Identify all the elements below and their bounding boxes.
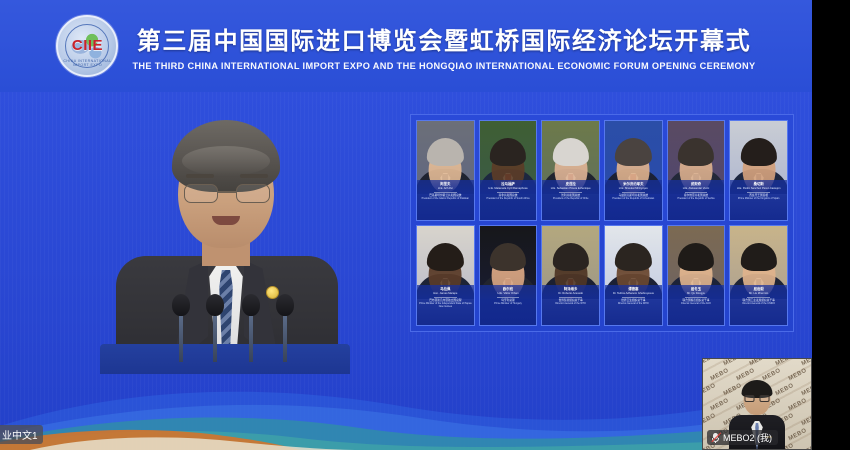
backdrop-watermark-text: MEBO	[788, 428, 808, 443]
leader-hair	[678, 243, 714, 271]
leader-title-en: President of the Republic of Chile	[553, 197, 588, 200]
leader-caption: 武契奇H.E. Aleksandar Vucic塞尔维亚共和国总统Preside…	[668, 180, 725, 220]
leader-caption-divider	[434, 192, 457, 193]
leader-hair	[427, 138, 463, 166]
corner-caption-label: 业中文1	[0, 425, 43, 444]
leader-name-en: Mr. Qu Dongyu	[687, 292, 705, 295]
leader-caption-divider	[747, 297, 770, 298]
leader-caption: 皮涅拉H.E. Sebastian Pinera Echenique智利共和国总…	[542, 180, 599, 220]
leader-title-en: President of the Republic of Uzbekistan	[612, 197, 654, 200]
leader-hair	[678, 138, 714, 166]
leader-portrait: 屈冬玉Mr. Qu Dongyu联合国粮农组织总干事Director-Gener…	[667, 225, 726, 326]
self-view-lens-left	[745, 395, 755, 402]
speaker-glasses-icon	[184, 184, 270, 204]
leader-hair	[741, 243, 777, 271]
backdrop-watermark-text: MEBO	[710, 398, 730, 413]
leader-caption-divider	[497, 192, 520, 193]
leader-caption-divider	[559, 192, 582, 193]
glasses-bridge	[218, 191, 236, 193]
leader-hair	[741, 138, 777, 166]
leader-caption-divider	[622, 297, 645, 298]
leader-name-en: H.E. Viktor Orban	[497, 292, 518, 295]
leader-hair	[615, 138, 651, 166]
leader-title-en: Director-General of the WHO	[618, 302, 649, 305]
ceremony-header-banner: CIIE CHINA INTERNATIONAL IMPORT EXPO 第三届…	[0, 0, 812, 92]
leader-title-en: Prime Minister of Hungary	[494, 302, 522, 305]
microphone-icon-3	[242, 294, 260, 362]
leader-hair	[553, 138, 589, 166]
leader-caption: 桑切斯H.E. Pedro Sanchez Perez-Castejon西班牙王…	[730, 180, 787, 220]
backdrop-watermark-text: MEBO	[762, 368, 782, 383]
leader-caption: 屈岩毅Mr. Liu Zhenmin联合国工业发展组织总干事Director-G…	[730, 285, 787, 325]
ceremony-stage-area: 阿里夫H.E. Arif Alvi巴基斯坦伊斯兰共和国总统President o…	[0, 92, 812, 450]
leader-title-en: Prime Minister of the Kingdom of Spain	[738, 197, 779, 200]
leader-name-en: H.E. Shavkat Mirziyoyev	[619, 187, 648, 190]
backdrop-watermark-text: MEBO	[801, 358, 812, 367]
leader-portrait: 皮涅拉H.E. Sebastian Pinera Echenique智利共和国总…	[541, 120, 600, 221]
backdrop-watermark-text: MEBO	[775, 358, 795, 367]
leader-portrait: 桑切斯H.E. Pedro Sanchez Perez-Castejon西班牙王…	[729, 120, 788, 221]
microphone-icon-4	[276, 294, 294, 362]
leader-portrait: 屈岩毅Mr. Liu Zhenmin联合国工业发展组织总干事Director-G…	[729, 225, 788, 326]
leader-name-en: H.E. Sebastian Pinera Echenique	[551, 187, 591, 190]
leader-title-en: Prime Minister of the Independent State …	[417, 302, 474, 308]
ciie-logo-text: CIIE	[58, 37, 116, 54]
backdrop-watermark-text: MEBO	[749, 358, 769, 367]
leader-title-en: Director-General of the UNIDO	[742, 302, 775, 305]
leader-title-en: President of the Republic of South Afric…	[487, 197, 530, 200]
leader-caption: 屈冬玉Mr. Qu Dongyu联合国粮农组织总干事Director-Gener…	[668, 285, 725, 325]
leader-portrait: 阿里夫H.E. Arif Alvi巴基斯坦伊斯兰共和国总统President o…	[416, 120, 475, 221]
leader-caption-divider	[685, 192, 708, 193]
glasses-lens-right	[236, 184, 270, 203]
leader-hair	[553, 243, 589, 271]
speaker-figure	[60, 110, 390, 360]
podium	[100, 344, 350, 374]
letterbox-bar-right	[812, 0, 850, 450]
backdrop-watermark-text: MEBO	[801, 443, 812, 450]
leader-caption-divider	[434, 297, 457, 298]
self-view-name-label: MEBO2 (我)	[707, 430, 778, 445]
leader-caption: 阿泽维多Dr. Roberto Azevedo世界贸易组织总干事Director…	[542, 285, 599, 325]
self-view-participant-name: MEBO2 (我)	[723, 431, 772, 444]
speaker-hair	[172, 120, 280, 192]
leader-portrait: 欧尔班H.E. Viktor Orban匈牙利总理Prime Minister …	[479, 225, 538, 326]
leader-portrait: 马拉佩Hon. James Marape巴布亚新几内亚独立国总理Prime Mi…	[416, 225, 475, 326]
leader-name-en: Dr. Roberto Azevedo	[558, 292, 583, 295]
video-conference-screen: CIIE CHINA INTERNATIONAL IMPORT EXPO 第三届…	[0, 0, 850, 450]
self-view-video-tile[interactable]: MEBOMEBOMEBOMEBOMEBOMEBOMEBOMEBOMEBOMEBO…	[702, 358, 812, 450]
ceremony-title-english: THE THIRD CHINA INTERNATIONAL IMPORT EXP…	[132, 61, 755, 71]
leader-caption: 欧尔班H.E. Viktor Orban匈牙利总理Prime Minister …	[480, 285, 537, 325]
leader-name-en: H.E. Matamela Cyril Ramaphosa	[488, 187, 527, 190]
speaker-brow-right	[240, 174, 268, 178]
backdrop-watermark-text: MEBO	[801, 383, 812, 398]
backdrop-watermark-text: MEBO	[788, 398, 808, 413]
ceremony-title-chinese: 第三届中国国际进口博览会暨虹桥国际经济论坛开幕式	[137, 21, 751, 56]
leader-hair	[490, 138, 526, 166]
leader-caption-divider	[747, 192, 770, 193]
leader-title-en: Director-General of the FAO	[681, 302, 711, 305]
leader-title-en: President of the Islamic Republic of Pak…	[422, 197, 469, 200]
leader-caption: 阿里夫H.E. Arif Alvi巴基斯坦伊斯兰共和国总统President o…	[417, 180, 474, 220]
leader-caption-divider	[622, 192, 645, 193]
self-view-lens-right	[760, 395, 770, 402]
leader-title-en: Director-General of the WTO	[555, 302, 586, 305]
backdrop-watermark-text: MEBO	[801, 413, 812, 428]
backdrop-watermark-text: MEBO	[710, 368, 730, 383]
leader-name-en: Mr. Liu Zhenmin	[749, 292, 768, 295]
backdrop-watermark-text: MEBO	[702, 358, 717, 367]
leader-caption-divider	[559, 297, 582, 298]
leader-portrait: 阿泽维多Dr. Roberto Azevedo世界贸易组织总干事Director…	[541, 225, 600, 326]
glasses-lens-left	[184, 184, 218, 203]
backdrop-watermark-text: MEBO	[702, 413, 717, 428]
shared-broadcast-video[interactable]: CIIE CHINA INTERNATIONAL IMPORT EXPO 第三届…	[0, 0, 812, 450]
speaker-brow-left	[186, 174, 214, 178]
microphone-icon-2	[206, 294, 224, 362]
leader-hair	[427, 243, 463, 271]
backdrop-watermark-text: MEBO	[702, 383, 717, 398]
leaders-portrait-grid: 阿里夫H.E. Arif Alvi巴基斯坦伊斯兰共和国总统President o…	[410, 114, 794, 332]
leader-portrait: 谭德塞Dr. Tedros Adhanom Ghebreyesus世界卫生组织总…	[604, 225, 663, 326]
leader-caption: 谭德塞Dr. Tedros Adhanom Ghebreyesus世界卫生组织总…	[605, 285, 662, 325]
leader-caption: 拉马福萨H.E. Matamela Cyril Ramaphosa南非共和国总统…	[480, 180, 537, 220]
leader-caption-divider	[685, 297, 708, 298]
header-titles: 第三届中国国际进口博览会暨虹桥国际经济论坛开幕式 THE THIRD CHINA…	[132, 21, 755, 71]
leader-title-en: President of the Republic of Serbia	[678, 197, 715, 200]
leader-name-en: Hon. James Marape	[433, 292, 457, 295]
leader-name-en: H.E. Aleksandar Vucic	[683, 187, 710, 190]
leader-hair	[490, 243, 526, 271]
self-view-glasses-icon	[745, 395, 770, 402]
leader-name-en: H.E. Pedro Sanchez Perez-Castejon	[737, 187, 781, 190]
microphone-muted-icon[interactable]	[711, 432, 720, 444]
leader-portrait: 武契奇H.E. Aleksandar Vucic塞尔维亚共和国总统Preside…	[667, 120, 726, 221]
microphone-icon-1	[172, 294, 190, 362]
leader-portrait: 米尔济约耶夫H.E. Shavkat Mirziyoyev乌兹别克斯坦共和国总统…	[604, 120, 663, 221]
ciie-logo-ring-text: CHINA INTERNATIONAL IMPORT EXPO	[58, 59, 116, 67]
leader-name-en: Dr. Tedros Adhanom Ghebreyesus	[613, 292, 654, 295]
leader-name-en: H.E. Arif Alvi	[438, 187, 453, 190]
backdrop-watermark-text: MEBO	[723, 358, 743, 367]
leader-portrait: 拉马福萨H.E. Matamela Cyril Ramaphosa南非共和国总统…	[479, 120, 538, 221]
leader-hair	[615, 243, 651, 271]
ciie-logo-icon: CIIE CHINA INTERNATIONAL IMPORT EXPO	[56, 15, 118, 77]
backdrop-watermark-text: MEBO	[788, 368, 808, 383]
leader-caption-divider	[497, 297, 520, 298]
leader-caption: 米尔济约耶夫H.E. Shavkat Mirziyoyev乌兹别克斯坦共和国总统…	[605, 180, 662, 220]
leader-caption: 马拉佩Hon. James Marape巴布亚新几内亚独立国总理Prime Mi…	[417, 285, 474, 325]
